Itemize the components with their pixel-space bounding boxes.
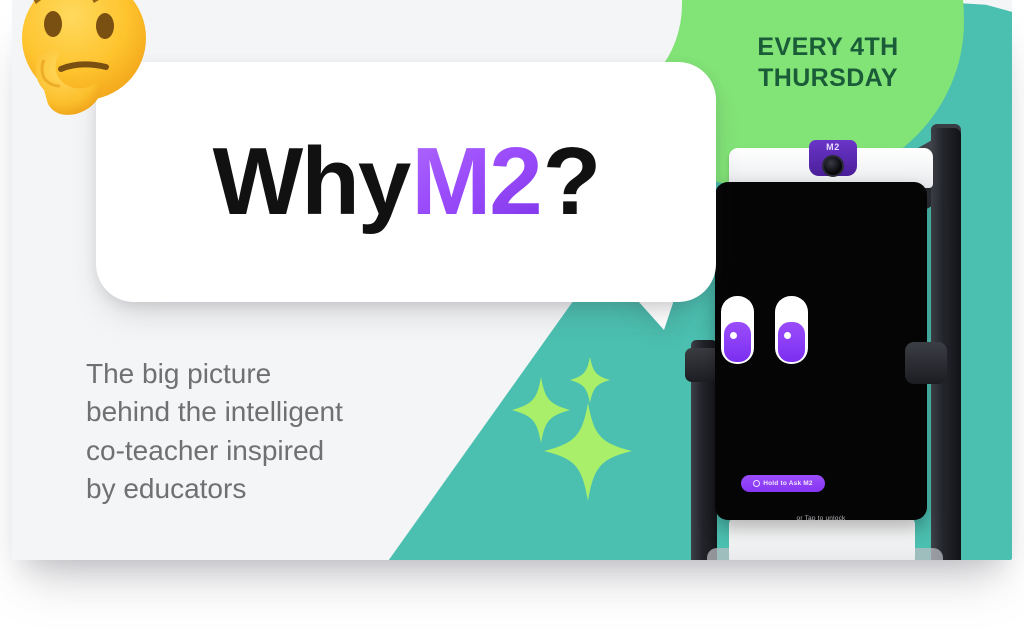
tap-to-unlock-hint: or Tap to unlock [715,515,927,522]
sparkles-icon [510,355,660,505]
robot-pupil-glint-left [730,332,737,339]
robot-pupil-right [778,322,805,362]
robot-right-joint [905,342,947,384]
speech-bubble: Why M2? [96,62,716,302]
subtitle-text: The big picture behind the intelligent c… [86,355,446,508]
thinking-face-emoji [4,0,174,142]
microphone-icon [753,480,760,487]
robot-base [729,518,915,560]
headline-prefix: Why [213,127,410,237]
robot-brand-tag: M2 [809,142,857,152]
headline-suffix: ? [543,127,600,237]
robot-pupil-glint-right [784,332,791,339]
screenshot-root: EVERY 4TH THURSDAY [0,0,1024,631]
hold-to-ask-button[interactable]: Hold to Ask M2 [741,475,825,492]
headline: Why M2? [96,62,716,302]
hold-to-ask-label: Hold to Ask M2 [763,480,813,487]
schedule-badge-label: EVERY 4TH THURSDAY [712,32,944,95]
robot-pupil-left [724,322,751,362]
headline-highlight: M2 [409,127,542,237]
robot-left-joint [685,348,719,382]
camera-lens-icon [822,155,844,177]
